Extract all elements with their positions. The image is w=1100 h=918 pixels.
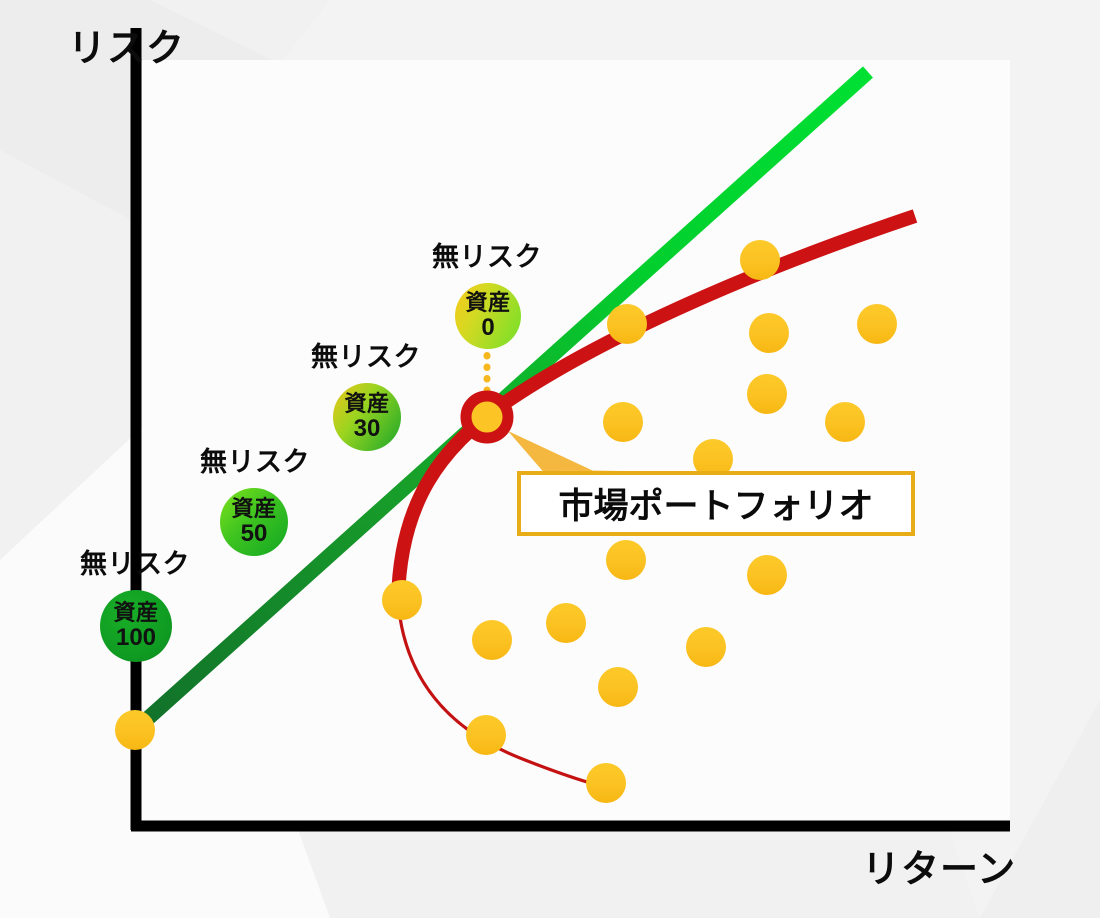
asset-bubble-value: 50 <box>241 522 268 546</box>
asset-bubble-value: 0 <box>481 316 494 340</box>
asset-bubble-label: 資産 <box>465 292 510 314</box>
asset-bubble-50: 資産 50 <box>220 488 288 556</box>
asset-caption-100: 無リスク <box>80 542 190 581</box>
asset-bubble-label: 資産 <box>344 393 389 415</box>
market-portfolio-callout-label: 市場ポートフォリオ <box>558 478 873 529</box>
asset-caption-30: 無リスク <box>311 335 421 374</box>
chart-canvas: リスク リターン 無リスク 資産 100 無リスク 資産 50 無リスク 資産 … <box>0 0 1100 918</box>
asset-bubble-30: 資産 30 <box>333 383 401 451</box>
asset-bubble-label: 資産 <box>231 498 276 520</box>
asset-bubble-label: 資産 <box>113 602 158 624</box>
asset-caption-50: 無リスク <box>200 440 310 479</box>
asset-caption-0: 無リスク <box>432 235 542 274</box>
asset-bubble-100: 資産 100 <box>100 590 172 662</box>
asset-bubble-value: 30 <box>354 417 381 441</box>
market-portfolio-marker <box>0 0 1100 918</box>
x-axis-title: リターン <box>862 838 1016 893</box>
asset-bubble-0: 資産 0 <box>455 283 521 349</box>
asset-bubble-value: 100 <box>116 626 156 650</box>
market-portfolio-callout: 市場ポートフォリオ <box>517 471 915 536</box>
y-axis-title: リスク <box>68 30 185 69</box>
